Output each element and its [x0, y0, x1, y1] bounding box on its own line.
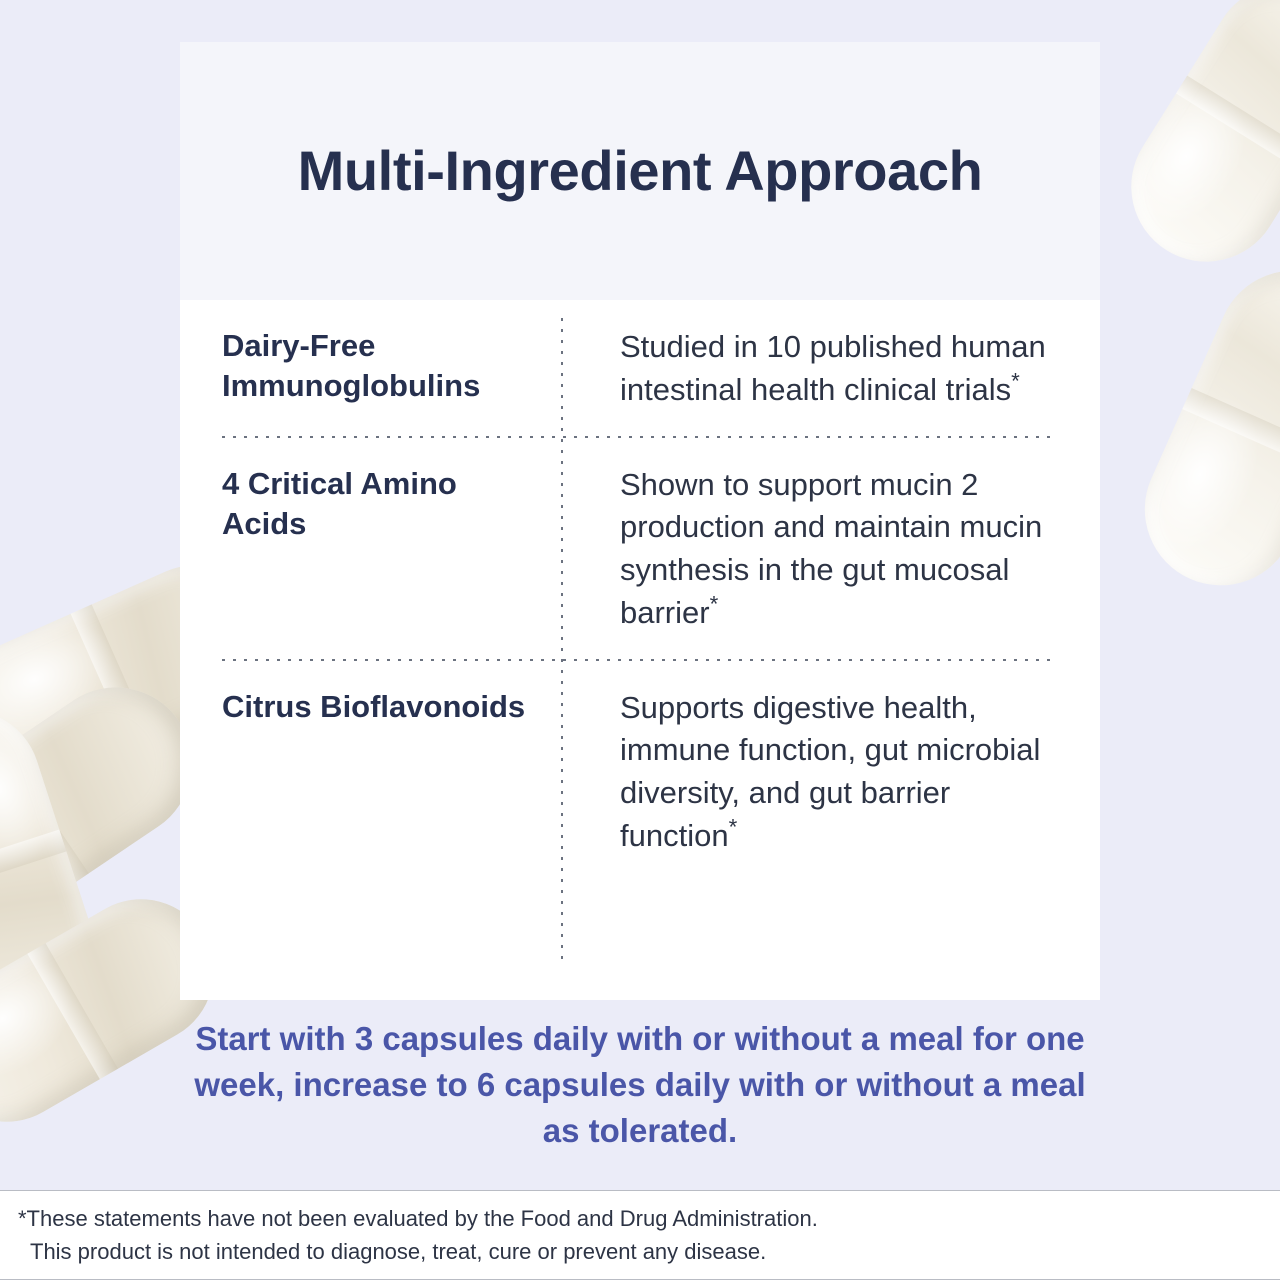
ingredient-description-text: Studied in 10 published human intestinal…: [620, 329, 1046, 407]
ingredient-description-text: Supports digestive health, immune functi…: [620, 690, 1040, 853]
table-row: 4 Critical Amino Acids Shown to support …: [222, 438, 1058, 659]
disclaimer-line-2: This product is not intended to diagnose…: [18, 1235, 1262, 1268]
ingredient-table: Dairy-Free Immunoglobulins Studied in 10…: [180, 300, 1100, 882]
table-row: Citrus Bioflavonoids Supports digestive …: [222, 661, 1058, 882]
footnote-marker: *: [1011, 368, 1020, 393]
card-header: Multi-Ingredient Approach: [180, 42, 1100, 300]
disclaimer-line-1: *These statements have not been evaluate…: [18, 1202, 1262, 1235]
ingredient-description-text: Shown to support mucin 2 production and …: [620, 467, 1042, 630]
page-title: Multi-Ingredient Approach: [298, 139, 983, 203]
footnote-marker: *: [710, 592, 719, 617]
ingredient-name-citrus-bioflavonoids: Citrus Bioflavonoids: [222, 687, 562, 727]
ingredient-name-4-critical-amino-acids: 4 Critical Amino Acids: [222, 464, 562, 545]
capsule-top-right-1-icon: [1103, 0, 1280, 290]
table-row: Dairy-Free Immunoglobulins Studied in 10…: [222, 300, 1058, 436]
ingredient-card: Multi-Ingredient Approach Dairy-Free Imm…: [180, 42, 1100, 1000]
disclaimer-footer: *These statements have not been evaluate…: [0, 1190, 1280, 1280]
footnote-marker: *: [729, 815, 738, 840]
capsule-left-3-icon: [0, 690, 113, 1041]
ingredient-description-dairy-free-immunoglobulins: Studied in 10 published human intestinal…: [562, 326, 1058, 412]
ingredient-description-4-critical-amino-acids: Shown to support mucin 2 production and …: [562, 464, 1058, 635]
ingredient-name-dairy-free-immunoglobulins: Dairy-Free Immunoglobulins: [222, 326, 562, 407]
ingredient-description-citrus-bioflavonoids: Supports digestive health, immune functi…: [562, 687, 1058, 858]
dosage-instructions: Start with 3 capsules daily with or with…: [180, 1016, 1100, 1155]
capsule-top-right-2-icon: [1120, 246, 1280, 609]
table-vertical-divider: [561, 318, 563, 964]
